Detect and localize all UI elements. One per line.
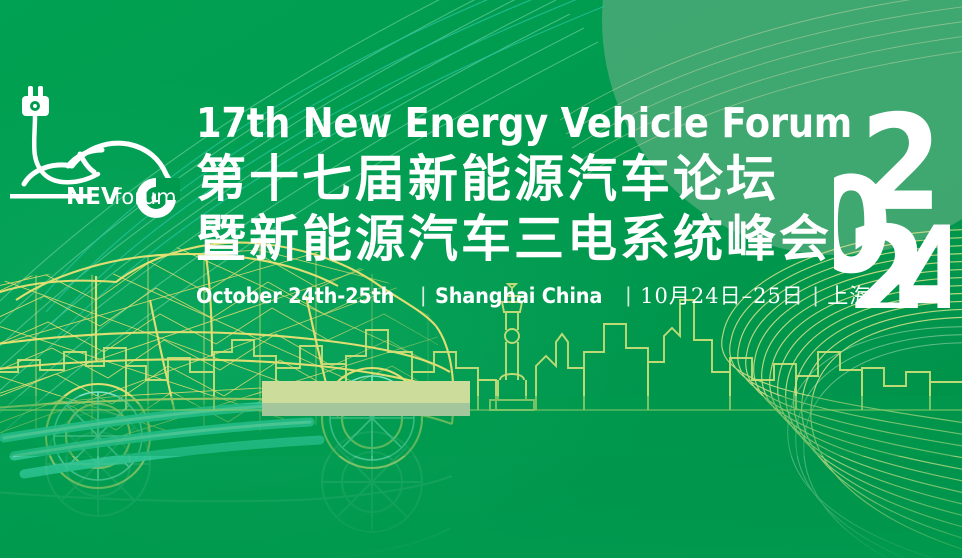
- meta-separator-3: |: [804, 284, 827, 308]
- event-location-english: Shanghai China: [435, 284, 602, 308]
- charging-plug-port-inner: [33, 104, 37, 108]
- platform-bar-shadow: [262, 403, 470, 416]
- charging-plug-icon: [22, 86, 49, 116]
- event-date-chinese: 10月24日–25日: [640, 280, 804, 310]
- meta-separator-1: |: [411, 284, 434, 308]
- title-chinese-line2: 暨新能源汽车三电系统峰会: [196, 210, 836, 269]
- title-english: 17th New Energy Vehicle Forum: [196, 100, 772, 146]
- event-date-english: October 24th-25th: [196, 284, 394, 308]
- logo-wordmark-light: forum: [114, 185, 177, 209]
- logo-wordmark-bold: NEV: [66, 184, 119, 210]
- title-chinese-line1: 第十七届新能源汽车论坛: [196, 150, 836, 209]
- meta-separator-2: |: [617, 284, 640, 308]
- year-digit-4: 4: [894, 198, 950, 308]
- nevforum-logo[interactable]: NEV forum: [6, 74, 196, 224]
- conference-banner: NEV forum 17th New Energy Vehicle Forum …: [0, 0, 962, 558]
- event-meta-line: October 24th-25th | Shanghai China | 10月…: [196, 280, 836, 310]
- year-2024: 2 0 2 4: [834, 108, 950, 308]
- title-block: 17th New Energy Vehicle Forum 第十七届新能源汽车论…: [196, 100, 836, 310]
- platform-bar-top: [262, 381, 470, 403]
